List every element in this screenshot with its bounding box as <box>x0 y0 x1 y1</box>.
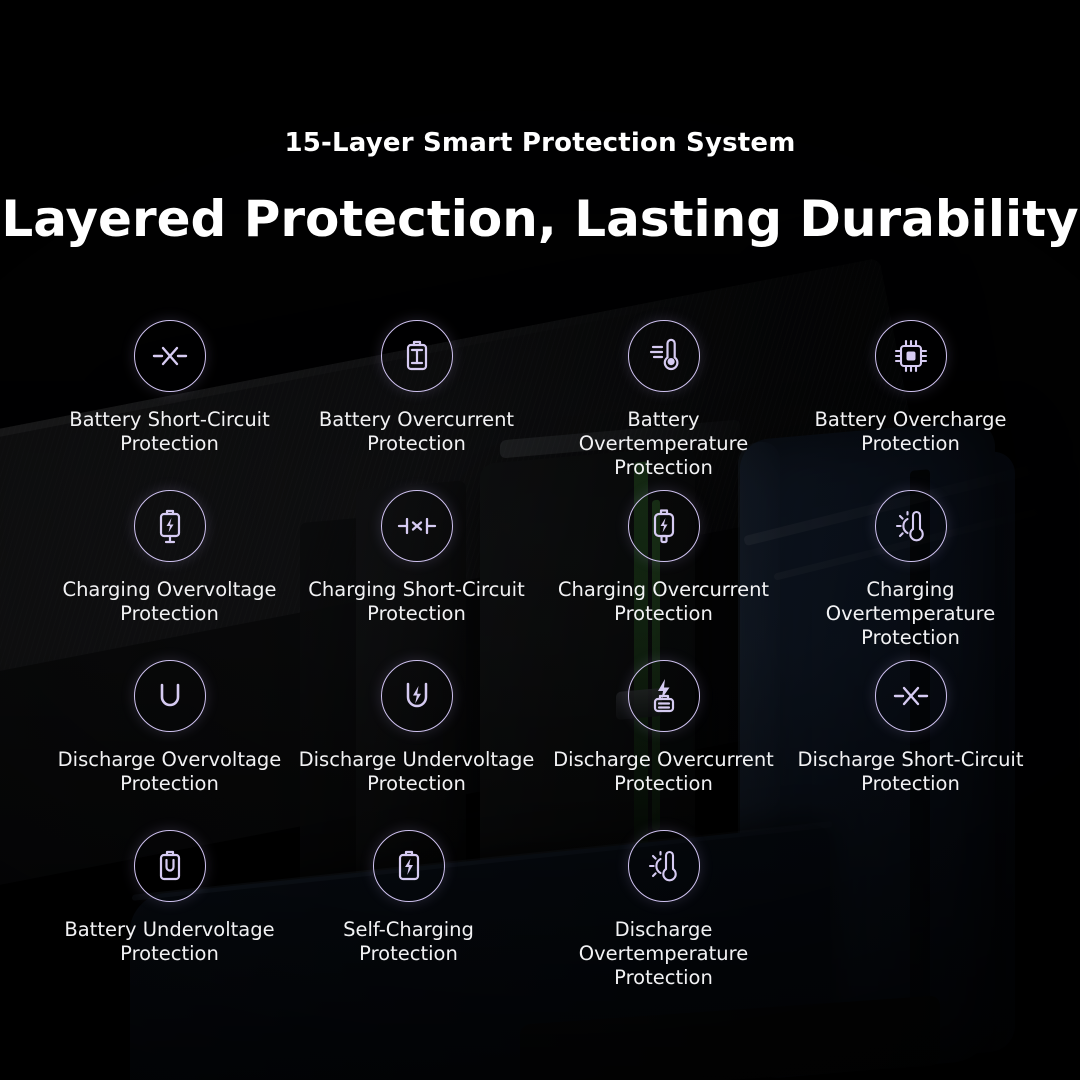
content-layer: 15-Layer Smart Protection System Layered… <box>0 0 1080 1080</box>
sun-thermometer-icon <box>875 490 947 562</box>
protection-item: Discharge Short-Circuit Protection <box>787 660 1034 830</box>
protection-item: Battery Overcharge Protection <box>787 320 1034 490</box>
protection-label: Charging Overcurrent Protection <box>558 578 769 626</box>
protection-item: Battery Short-Circuit Protection <box>46 320 293 490</box>
kicker-text: 15-Layer Smart Protection System <box>0 128 1080 158</box>
protection-label: Discharge Overtemperature Protection <box>544 918 784 990</box>
battery-bolt-icon <box>373 830 445 902</box>
short-circuit-icon <box>134 320 206 392</box>
protection-item: Charging Overtemperature Protection <box>787 490 1034 660</box>
battery-u-icon <box>134 830 206 902</box>
protection-item: Discharge Overtemperature Protection <box>540 830 787 1000</box>
protection-label: Discharge Overvoltage Protection <box>58 748 282 796</box>
protection-item: Charging Overcurrent Protection <box>540 490 787 660</box>
protection-label: Battery Overtemperature Protection <box>544 408 784 480</box>
sun-thermometer-icon <box>628 830 700 902</box>
protection-item: Discharge Undervoltage Protection <box>293 660 540 830</box>
voltage-u-icon <box>134 660 206 732</box>
thermometer-heat-icon <box>628 320 700 392</box>
protection-grid: Battery Short-Circuit Protection Battery… <box>46 320 1034 1000</box>
protection-label: Battery Short-Circuit Protection <box>69 408 270 456</box>
battery-discharge-bolt-icon <box>628 660 700 732</box>
page-title: Layered Protection, Lasting Durability <box>0 190 1080 248</box>
battery-bolt-plug-icon <box>134 490 206 562</box>
product-feature-graphic: 15-Layer Smart Protection System Layered… <box>0 0 1080 1080</box>
protection-item: Battery Undervoltage Protection <box>46 830 293 1000</box>
protection-label: Battery Undervoltage Protection <box>64 918 274 966</box>
protection-label: Charging Short-Circuit Protection <box>308 578 524 626</box>
chip-icon <box>875 320 947 392</box>
protection-label: Discharge Short-Circuit Protection <box>797 748 1023 796</box>
protection-item: Charging Overvoltage Protection <box>46 490 293 660</box>
protection-item: Battery Overcurrent Protection <box>293 320 540 490</box>
voltage-u-bolt-icon <box>381 660 453 732</box>
battery-bolt-connector-icon <box>628 490 700 562</box>
protection-label: Self-Charging Protection <box>343 918 474 966</box>
protection-item: Discharge Overvoltage Protection <box>46 660 293 830</box>
protection-label: Charging Overtemperature Protection <box>791 578 1031 650</box>
short-circuit-icon <box>875 660 947 732</box>
plug-cross-plug-icon <box>381 490 453 562</box>
protection-item: Self-Charging Protection <box>285 830 532 1000</box>
protection-item: Battery Overtemperature Protection <box>540 320 787 490</box>
protection-label: Battery Overcharge Protection <box>815 408 1007 456</box>
protection-label: Battery Overcurrent Protection <box>319 408 514 456</box>
protection-item: Charging Short-Circuit Protection <box>293 490 540 660</box>
protection-label: Discharge Overcurrent Protection <box>553 748 774 796</box>
battery-overcurrent-icon <box>381 320 453 392</box>
protection-label: Charging Overvoltage Protection <box>62 578 276 626</box>
protection-item: Discharge Overcurrent Protection <box>540 660 787 830</box>
protection-label: Discharge Undervoltage Protection <box>299 748 535 796</box>
